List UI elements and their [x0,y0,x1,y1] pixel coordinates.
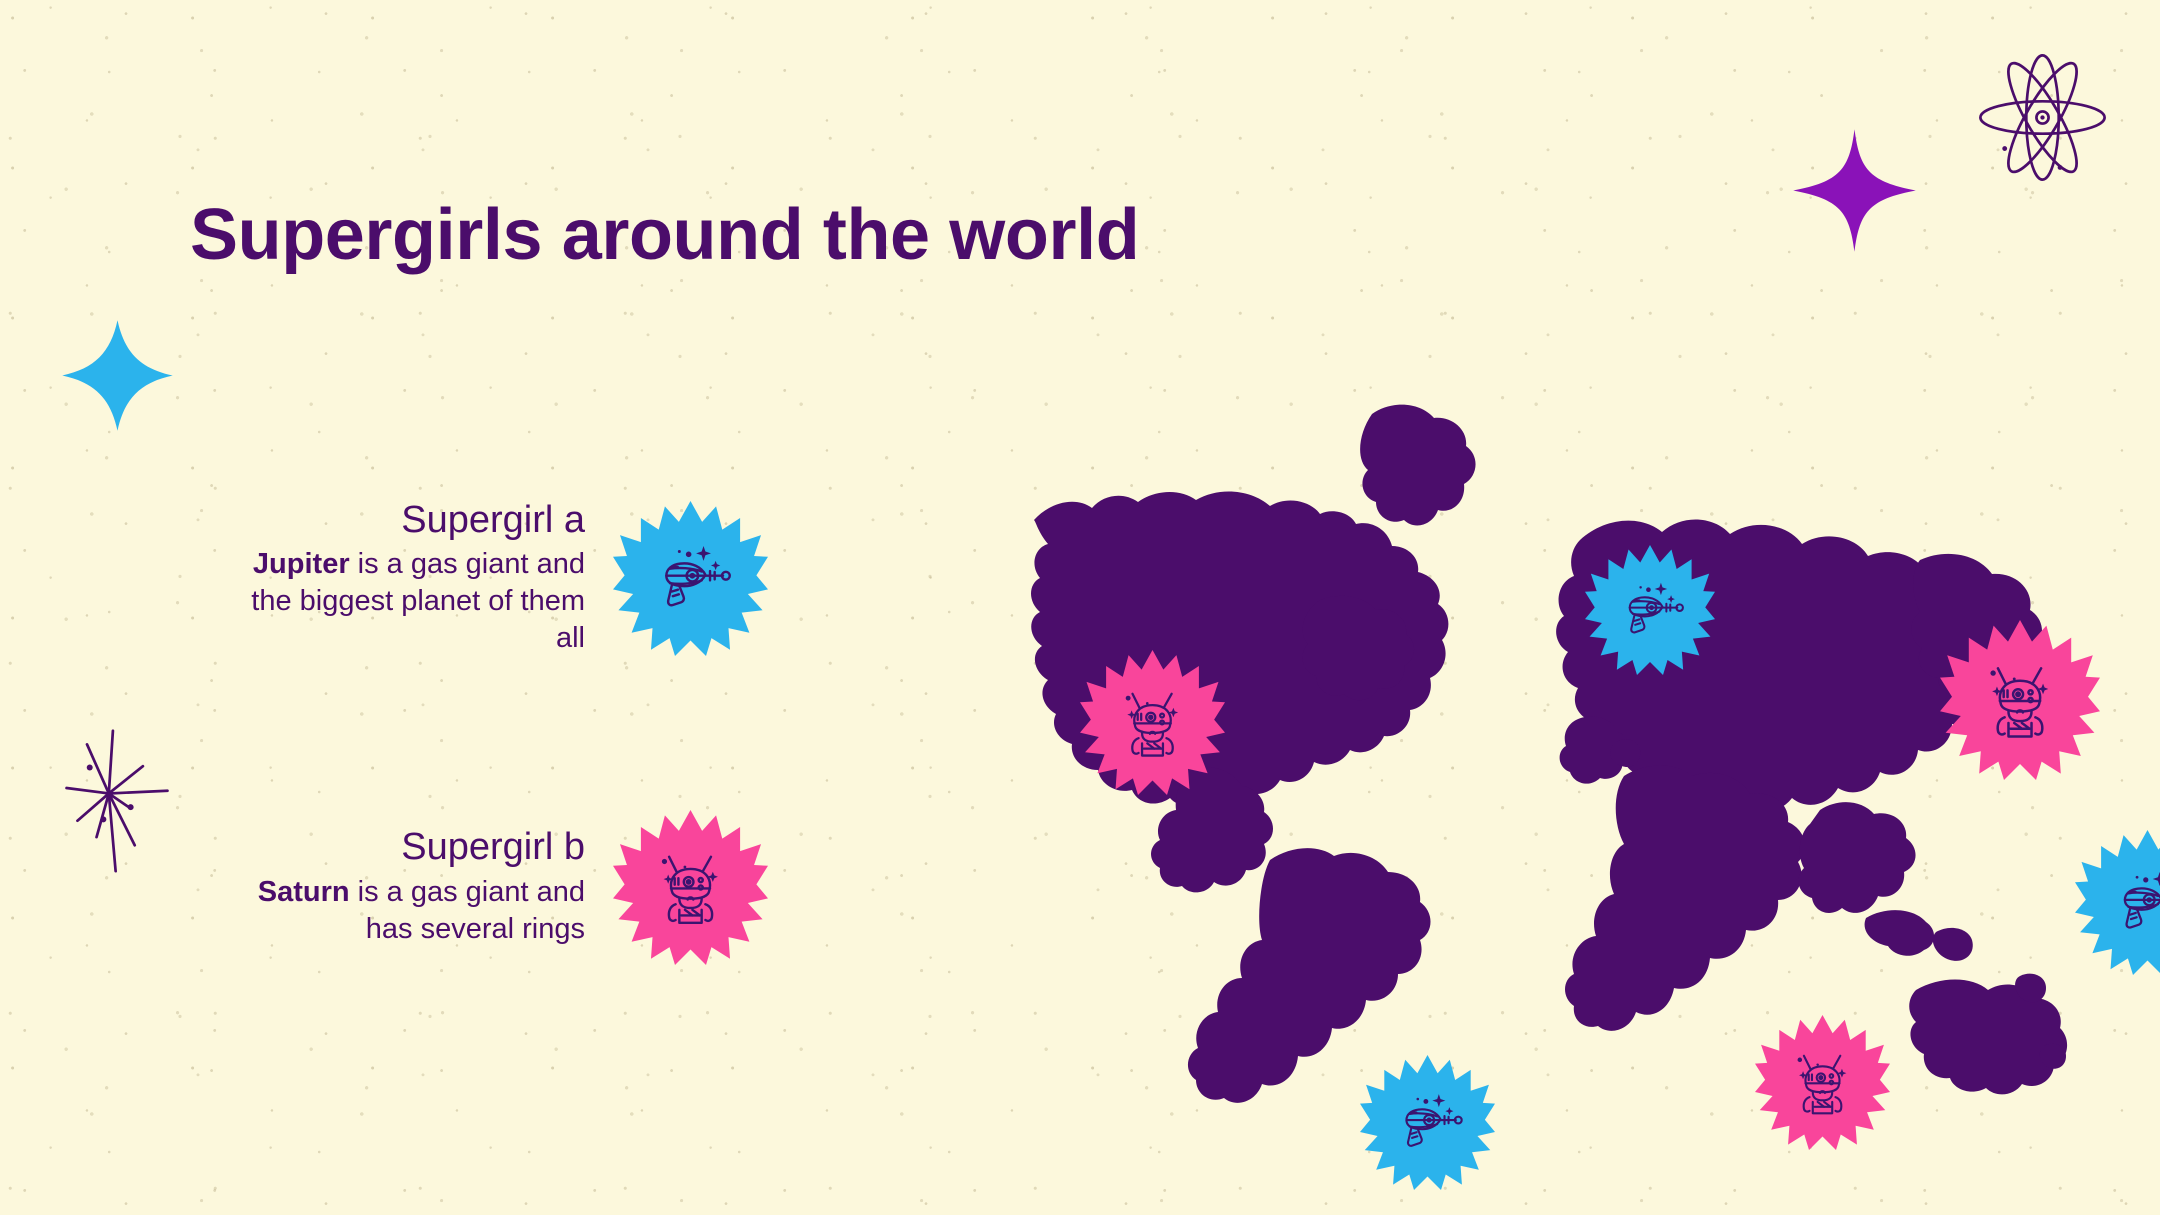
badge-supergirl-b[interactable] [613,810,768,965]
marker-south-america[interactable] [1360,1055,1495,1190]
page-title: Supergirls around the world [190,198,1139,274]
block-b-description: is a gas giant and has several rings [350,876,585,945]
block-a-planet: Jupiter [253,548,350,580]
badge-supergirl-a[interactable] [613,501,768,656]
marker-africa[interactable] [1755,1015,1890,1150]
content-block-supergirl-a: Supergirl a Jupiter is a gas giant and t… [215,500,768,658]
atom-icon [1975,50,2110,185]
block-a-body: Jupiter is a gas giant and the biggest p… [215,546,585,657]
world-map [1020,390,2080,1090]
content-block-supergirl-b: Supergirl b Saturn is a gas giant and ha… [215,810,768,965]
marker-asia-south[interactable] [2075,830,2160,975]
blue-diamond-icon [60,318,175,433]
block-b-body: Saturn is a gas giant and has several ri… [215,874,585,948]
sparkle-burst-icon [62,728,202,878]
block-b-heading: Supergirl b [215,827,585,867]
block-b-planet: Saturn [258,876,350,908]
block-a-heading: Supergirl a [215,500,585,540]
four-point-star-icon [1792,128,1917,253]
